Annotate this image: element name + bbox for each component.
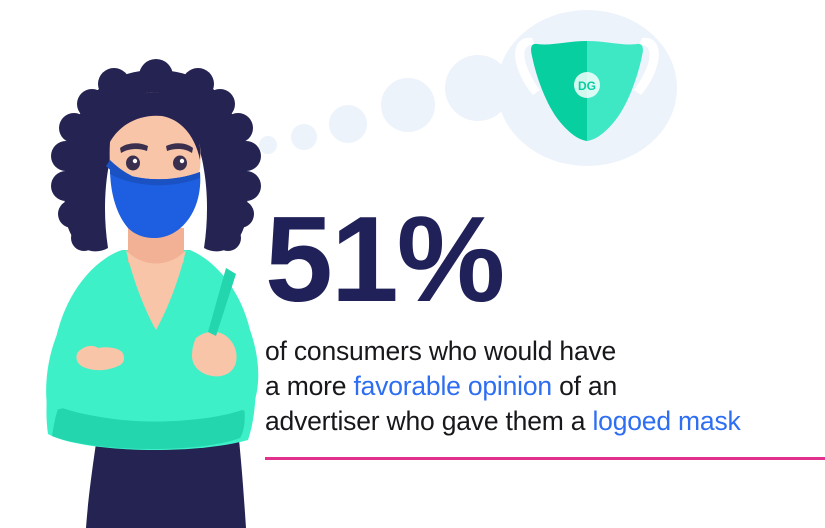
description-line-2-prefix: a more bbox=[265, 371, 353, 401]
mask-logo-text: DG bbox=[578, 79, 596, 93]
description-line-1: of consumers who would have bbox=[265, 336, 616, 366]
statistic-description: of consumers who would have a more favor… bbox=[265, 334, 820, 440]
infographic-canvas: DG bbox=[0, 0, 825, 528]
thought-bubble-oval bbox=[497, 10, 677, 166]
description-line-2-suffix: of an bbox=[552, 371, 617, 401]
logoed-mask-icon: DG bbox=[515, 38, 659, 141]
statistic-value: 51% bbox=[265, 198, 820, 328]
eye-highlight-left bbox=[133, 159, 137, 163]
person-eye-right bbox=[173, 156, 187, 171]
highlight-logoed-mask: logoed mask bbox=[593, 406, 741, 436]
statistic-text-block: 51% of consumers who would have a more f… bbox=[265, 198, 820, 440]
description-line-3-prefix: advertiser who gave them a bbox=[265, 406, 593, 436]
eye-highlight-right bbox=[180, 159, 184, 163]
person-eye-left bbox=[126, 156, 140, 171]
accent-divider-rule bbox=[265, 457, 825, 460]
highlight-favorable-opinion: favorable opinion bbox=[353, 371, 551, 401]
mask-logo-badge: DG bbox=[574, 72, 600, 98]
